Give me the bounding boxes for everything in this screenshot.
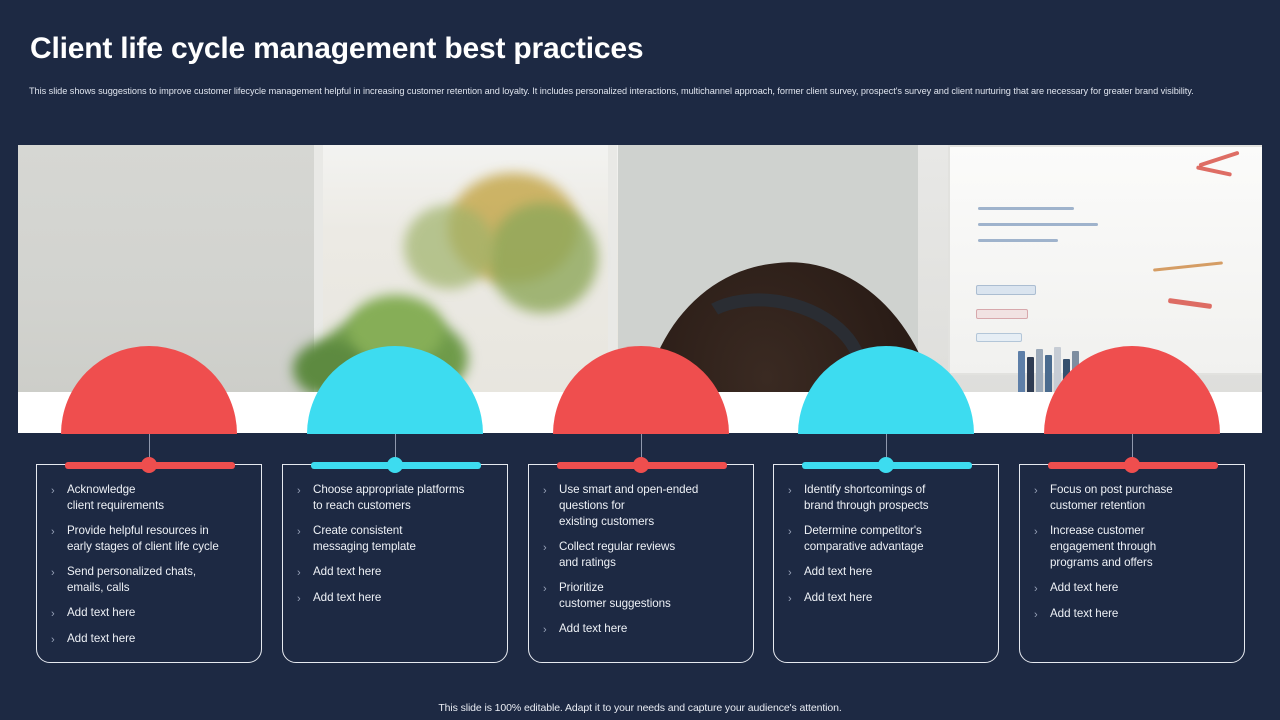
chevron-right-icon: ›	[788, 523, 804, 540]
photo-board-mark	[976, 285, 1036, 295]
bullet-text: Send personalized chats, emails, calls	[67, 564, 196, 596]
bullet-item: ›Prioritize customer suggestions	[529, 580, 753, 612]
page-title: Client life cycle management best practi…	[30, 30, 643, 68]
bullet-item: ›Collect regular reviews and ratings	[529, 539, 753, 571]
bullet-text: Add text here	[1050, 606, 1118, 622]
chevron-right-icon: ›	[1034, 523, 1050, 540]
bullet-text: Prioritize customer suggestions	[559, 580, 671, 612]
chevron-right-icon: ›	[788, 482, 804, 499]
bullet-item: ›Increase customer engagement through pr…	[1020, 523, 1244, 571]
bullet-text: Acknowledge client requirements	[67, 482, 164, 514]
bullet-item: ›Choose appropriate platforms to reach c…	[283, 482, 507, 514]
bullet-list: ›Identify shortcomings of brand through …	[774, 482, 998, 616]
chevron-right-icon: ›	[51, 482, 67, 499]
bullet-item: ›Add text here	[774, 590, 998, 607]
bullet-text: Add text here	[804, 564, 872, 580]
card-accent-dot	[633, 457, 649, 473]
chevron-right-icon: ›	[1034, 482, 1050, 499]
photo-board-mark	[976, 333, 1022, 342]
bullet-item: ›Identify shortcomings of brand through …	[774, 482, 998, 514]
bullet-item: ›Add text here	[1020, 580, 1244, 597]
bullet-text: Add text here	[1050, 580, 1118, 596]
chevron-right-icon: ›	[543, 482, 559, 499]
photo-board-mark	[978, 207, 1074, 210]
step-card-4[interactable]: ›Identify shortcomings of brand through …	[773, 464, 999, 663]
bullet-item: ›Add text here	[774, 564, 998, 581]
bullet-text: Use smart and open-ended questions for e…	[559, 482, 698, 530]
step-card-5[interactable]: ›Focus on post purchase customer retenti…	[1019, 464, 1245, 663]
chevron-right-icon: ›	[1034, 606, 1050, 623]
chevron-right-icon: ›	[1034, 580, 1050, 597]
bullet-item: ›Add text here	[1020, 606, 1244, 623]
bullet-item: ›Focus on post purchase customer retenti…	[1020, 482, 1244, 514]
chevron-right-icon: ›	[51, 631, 67, 648]
chevron-right-icon: ›	[788, 590, 804, 607]
chevron-right-icon: ›	[543, 580, 559, 597]
chevron-right-icon: ›	[51, 523, 67, 540]
bullet-list: ›Choose appropriate platforms to reach c…	[283, 482, 507, 616]
chevron-right-icon: ›	[543, 539, 559, 556]
page-subtitle: This slide shows suggestions to improve …	[29, 85, 1239, 98]
card-accent-dot	[387, 457, 403, 473]
photo-board-mark	[978, 223, 1098, 226]
bullet-item: ›Use smart and open-ended questions for …	[529, 482, 753, 530]
step-card-2[interactable]: ›Choose appropriate platforms to reach c…	[282, 464, 508, 663]
chevron-right-icon: ›	[297, 590, 313, 607]
bullet-text: Determine competitor's comparative advan…	[804, 523, 923, 555]
card-accent-dot	[878, 457, 894, 473]
chevron-right-icon: ›	[297, 482, 313, 499]
chevron-right-icon: ›	[51, 564, 67, 581]
bullet-text: Focus on post purchase customer retentio…	[1050, 482, 1173, 514]
bullet-text: Increase customer engagement through pro…	[1050, 523, 1156, 571]
bullet-text: Collect regular reviews and ratings	[559, 539, 675, 571]
bullet-item: ›Provide helpful resources in early stag…	[37, 523, 261, 555]
chevron-right-icon: ›	[543, 621, 559, 638]
bullet-item: ›Add text here	[529, 621, 753, 638]
bullet-item: ›Add text here	[37, 605, 261, 622]
bullet-text: Add text here	[313, 590, 381, 606]
bullet-item: ›Create consistent messaging template	[283, 523, 507, 555]
step-card-1[interactable]: ›Acknowledge client requirements›Provide…	[36, 464, 262, 663]
bullet-text: Provide helpful resources in early stage…	[67, 523, 219, 555]
bullet-text: Choose appropriate platforms to reach cu…	[313, 482, 464, 514]
bullet-text: Add text here	[559, 621, 627, 637]
bullet-text: Add text here	[67, 605, 135, 621]
footer-note: This slide is 100% editable. Adapt it to…	[0, 702, 1280, 714]
card-accent-dot	[1124, 457, 1140, 473]
slide-root: Client life cycle management best practi…	[0, 0, 1280, 720]
photo-tree	[488, 203, 598, 313]
photo-tree	[404, 205, 494, 289]
chevron-right-icon: ›	[297, 523, 313, 540]
bullet-item: ›Acknowledge client requirements	[37, 482, 261, 514]
card-accent-dot	[141, 457, 157, 473]
bullet-text: Add text here	[804, 590, 872, 606]
bullet-item: ›Add text here	[37, 631, 261, 648]
bullet-text: Add text here	[313, 564, 381, 580]
bullet-item: ›Add text here	[283, 564, 507, 581]
bullet-text: Add text here	[67, 631, 135, 647]
photo-board-mark	[976, 309, 1028, 319]
chevron-right-icon: ›	[51, 605, 67, 622]
bullet-list: ›Acknowledge client requirements›Provide…	[37, 482, 261, 657]
bullet-item: ›Send personalized chats, emails, calls	[37, 564, 261, 596]
step-card-3[interactable]: ›Use smart and open-ended questions for …	[528, 464, 754, 663]
bullet-item: ›Add text here	[283, 590, 507, 607]
bullet-item: ›Determine competitor's comparative adva…	[774, 523, 998, 555]
chevron-right-icon: ›	[297, 564, 313, 581]
bullet-list: ›Focus on post purchase customer retenti…	[1020, 482, 1244, 632]
photo-board-mark	[978, 239, 1058, 242]
bullet-text: Identify shortcomings of brand through p…	[804, 482, 929, 514]
chevron-right-icon: ›	[788, 564, 804, 581]
bullet-text: Create consistent messaging template	[313, 523, 416, 555]
bullet-list: ›Use smart and open-ended questions for …	[529, 482, 753, 647]
